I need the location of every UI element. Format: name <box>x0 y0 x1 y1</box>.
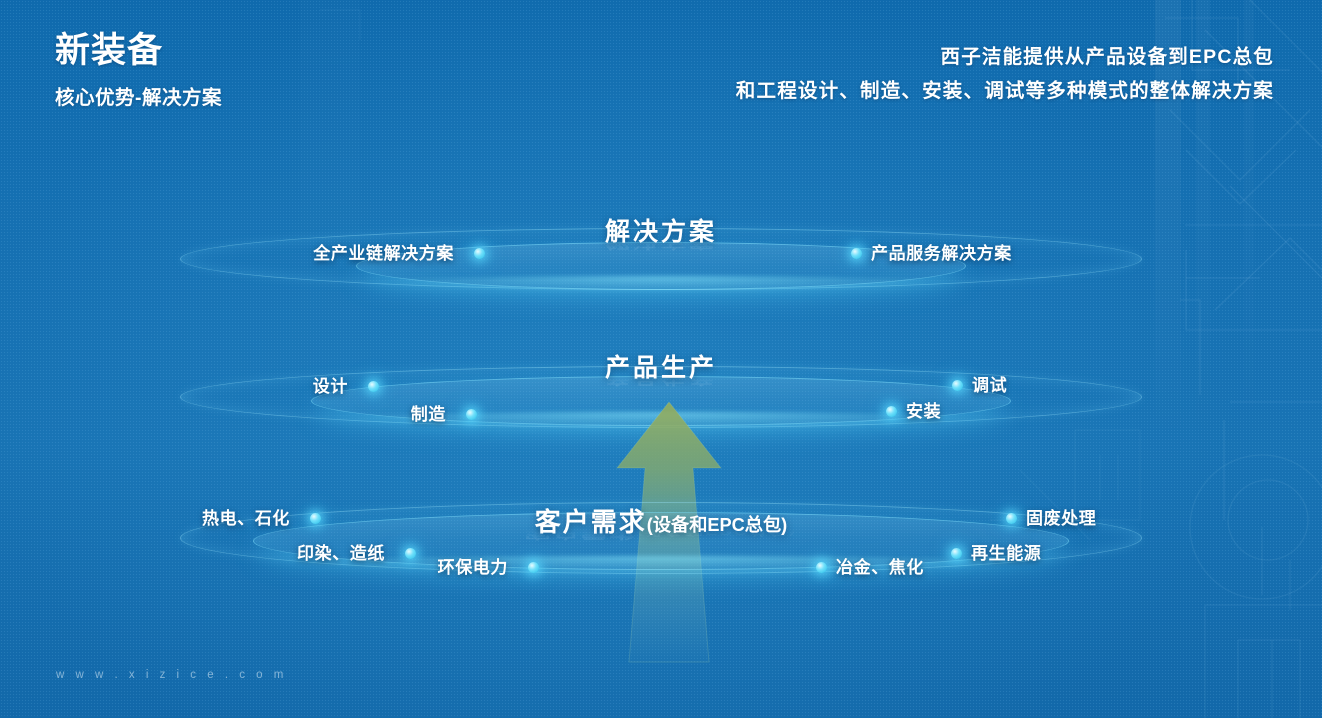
tier-title-production: 产品生产 <box>605 348 717 384</box>
node-dot-icon <box>466 409 477 420</box>
node-label: 冶金、焦化 <box>836 553 924 578</box>
tier-title-customer-demand: 客户需求(设备和EPC总包) <box>535 502 787 539</box>
node-dot-icon <box>405 548 416 559</box>
node-label: 安装 <box>906 397 941 422</box>
node-dot-icon <box>951 548 962 559</box>
node-dot-icon <box>886 406 897 417</box>
tier-title-text: 解决方案 <box>605 218 717 246</box>
node-dot-icon <box>816 562 827 573</box>
node-dot-icon <box>1006 513 1017 524</box>
node-label: 再生能源 <box>971 539 1041 564</box>
node-label: 固废处理 <box>1026 504 1096 529</box>
node-dot-icon <box>851 248 862 259</box>
tier-title-suffix: (设备和EPC总包) <box>647 515 787 535</box>
node-label: 调试 <box>972 371 1007 396</box>
node-label: 产品服务解决方案 <box>871 239 1012 264</box>
node-dot-icon <box>528 562 539 573</box>
node-label: 设计 <box>313 372 348 397</box>
node-dot-icon <box>474 248 485 259</box>
solution-diagram: 解决方案 解决方案 全产业链解决方案 产品服务解决方案 产品生产 产品生产 <box>0 0 1322 718</box>
node-dot-icon <box>952 380 963 391</box>
node-label: 全产业链解决方案 <box>313 239 454 264</box>
node-label: 印染、造纸 <box>297 539 385 564</box>
tier-title-text: 客户需求 <box>535 507 647 537</box>
node-label: 制造 <box>411 400 446 425</box>
slide-canvas: 新装备 核心优势-解决方案 西子洁能提供从产品设备到EPC总包 和工程设计、制造… <box>0 0 1322 718</box>
node-dot-icon <box>368 381 379 392</box>
node-label: 环保电力 <box>438 553 508 578</box>
footer-website: w w w . x i z i c e . c o m <box>56 669 287 681</box>
tier-title-solution: 解决方案 <box>605 212 717 248</box>
tier-title-text: 产品生产 <box>605 354 717 382</box>
node-dot-icon <box>310 513 321 524</box>
node-label: 热电、石化 <box>202 504 290 529</box>
